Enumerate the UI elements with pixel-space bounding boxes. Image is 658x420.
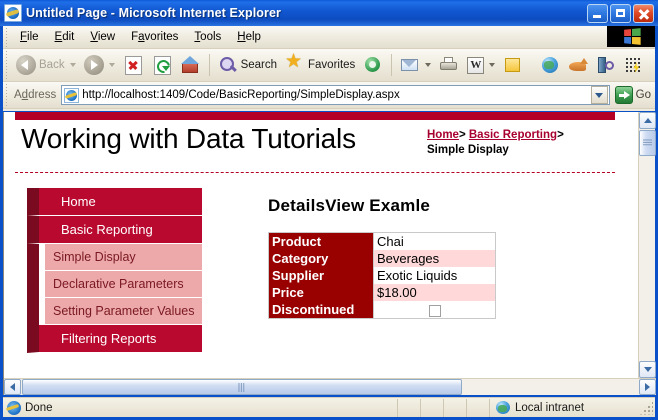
sidebar-item-simple-display[interactable]: Simple Display — [45, 244, 202, 271]
status-cell-4 — [466, 399, 489, 417]
scroll-grip — [643, 140, 652, 147]
menu-gripper[interactable] — [3, 26, 10, 48]
vertical-scroll-thumb[interactable] — [639, 130, 656, 156]
toolbar-separator-2 — [391, 54, 392, 76]
sidebar-item-filtering-reports[interactable]: Filtering Reports — [27, 325, 202, 353]
edit-word-button[interactable] — [463, 50, 499, 80]
window-controls — [587, 4, 658, 23]
table-row: Category Beverages — [269, 250, 496, 267]
window-title: Untitled Page - Microsoft Internet Explo… — [26, 6, 587, 20]
scroll-down-button[interactable] — [639, 361, 656, 378]
stop-button[interactable] — [119, 50, 148, 80]
row-value-discontinued — [374, 301, 496, 319]
table-row: Price $18.00 — [269, 284, 496, 301]
chevron-up-icon — [644, 118, 652, 123]
notes-button[interactable] — [499, 50, 527, 80]
chevron-right-icon — [645, 383, 650, 391]
address-url-text[interactable]: http://localhost:1409/Code/BasicReportin… — [82, 89, 590, 101]
mail-icon — [400, 55, 420, 75]
scroll-left-button[interactable] — [4, 379, 21, 395]
sidebar-nav: Home Basic Reporting Simple Display Decl… — [27, 188, 202, 353]
edit-word-icon — [467, 57, 484, 74]
breadcrumb-separator-2: > — [557, 129, 564, 141]
row-label-discontinued: Discontinued — [269, 301, 374, 319]
back-button[interactable]: Back — [12, 50, 80, 80]
security-zone-label: Local intranet — [515, 402, 584, 414]
menu-item-tools[interactable]: Tools — [186, 28, 229, 46]
back-icon — [16, 55, 36, 75]
status-text: Done — [25, 402, 397, 414]
sidebar-item-declarative-parameters[interactable]: Declarative Parameters — [45, 271, 202, 298]
address-gripper[interactable] — [3, 82, 10, 108]
address-dropdown-icon[interactable] — [591, 86, 608, 104]
row-label-price: Price — [269, 284, 374, 301]
page-status-icon — [7, 401, 21, 415]
research-icon — [596, 55, 616, 75]
forward-icon — [84, 55, 104, 75]
breadcrumb-current: Simple Display — [427, 143, 617, 158]
go-label: Go — [636, 89, 651, 101]
chevron-down-icon — [644, 367, 652, 372]
browser-chrome: File Edit View Favorites Tools Help Back — [3, 26, 655, 111]
breadcrumb-link-home[interactable]: Home — [427, 129, 459, 141]
print-button[interactable] — [435, 50, 463, 80]
sidebar-item-home[interactable]: Home — [27, 188, 202, 216]
breadcrumb-link-section[interactable]: Basic Reporting — [469, 129, 557, 141]
web-page: Working with Data Tutorials Home> Basic … — [4, 112, 638, 378]
status-cell-1 — [397, 399, 420, 417]
details-view-body: Product Chai Category Beverages Supplier… — [269, 233, 496, 319]
row-label-category: Category — [269, 250, 374, 267]
search-label: Search — [241, 59, 277, 71]
page-accent-bar — [15, 112, 615, 120]
favorites-button[interactable]: Favorites — [281, 50, 359, 80]
messenger-button[interactable] — [536, 50, 564, 80]
ie-page-icon — [4, 4, 22, 22]
resize-grip[interactable] — [639, 401, 653, 415]
address-input[interactable]: http://localhost:1409/Code/BasicReportin… — [61, 85, 609, 105]
back-label: Back — [39, 59, 65, 71]
scroll-grip — [239, 383, 246, 392]
refresh-button[interactable] — [148, 50, 177, 80]
msn-icon — [624, 55, 644, 75]
page-header: Working with Data Tutorials Home> Basic … — [15, 120, 615, 168]
home-icon — [181, 55, 201, 75]
security-zone[interactable]: Local intranet — [489, 399, 639, 417]
chevron-left-icon — [10, 383, 15, 391]
breadcrumb: Home> Basic Reporting> Simple Display — [427, 128, 617, 158]
back-dropdown-icon[interactable] — [70, 63, 76, 67]
refresh-icon — [154, 56, 171, 75]
title-bar: Untitled Page - Microsoft Internet Explo… — [0, 0, 658, 26]
sidebar-item-setting-parameter-values[interactable]: Setting Parameter Values — [45, 298, 202, 325]
favorites-label: Favorites — [308, 59, 355, 71]
row-value-price: $18.00 — [374, 284, 496, 301]
details-view-table: Product Chai Category Beverages Supplier… — [268, 232, 496, 319]
favorites-star-icon — [285, 55, 305, 75]
go-arrow-icon — [615, 86, 633, 104]
header-divider — [15, 172, 615, 173]
menu-item-favorites[interactable]: Favorites — [123, 28, 186, 46]
media-button[interactable] — [359, 50, 387, 80]
windows-flag-icon — [607, 26, 655, 47]
globe-icon — [496, 401, 511, 415]
horizontal-scrollbar[interactable] — [4, 378, 656, 395]
table-row: Discontinued — [269, 301, 496, 319]
menu-item-edit[interactable]: Edit — [47, 28, 83, 46]
forward-button[interactable] — [80, 50, 119, 80]
breadcrumb-separator-1: > — [459, 129, 466, 141]
print-icon — [439, 55, 459, 75]
search-icon — [218, 55, 238, 75]
vertical-scrollbar[interactable] — [638, 112, 655, 378]
row-value-product: Chai — [374, 233, 496, 251]
status-bar: Done Local intranet — [3, 397, 655, 417]
row-label-product: Product — [269, 233, 374, 251]
go-button[interactable]: Go — [615, 86, 655, 104]
page-favicon — [64, 88, 79, 103]
mail-dropdown-icon[interactable] — [425, 63, 431, 67]
media-icon — [363, 55, 383, 75]
content-heading: DetailsView Examle — [268, 196, 602, 216]
row-value-category: Beverages — [374, 250, 496, 267]
toolbar: Back Search — [3, 49, 655, 82]
close-button[interactable] — [633, 4, 654, 23]
stop-icon — [125, 56, 142, 75]
search-button[interactable]: Search — [214, 50, 281, 80]
page-viewport: Working with Data Tutorials Home> Basic … — [3, 112, 655, 395]
menu-bar: File Edit View Favorites Tools Help — [3, 26, 655, 49]
research-button[interactable] — [592, 50, 620, 80]
row-label-supplier: Supplier — [269, 267, 374, 284]
home-button[interactable] — [177, 50, 205, 80]
minimize-button[interactable] — [587, 4, 608, 23]
row-value-supplier: Exotic Liquids — [374, 267, 496, 284]
menu-item-file[interactable]: File — [12, 28, 47, 46]
address-bar: Address http://localhost:1409/Code/Basic… — [3, 82, 655, 109]
browser-window: Untitled Page - Microsoft Internet Explo… — [0, 0, 658, 420]
fox-icon — [568, 55, 588, 75]
notes-icon — [503, 55, 523, 75]
table-row: Supplier Exotic Liquids — [269, 267, 496, 284]
menu-item-help[interactable]: Help — [229, 28, 269, 46]
horizontal-scroll-thumb[interactable] — [22, 379, 462, 395]
edit-dropdown-icon[interactable] — [489, 63, 495, 67]
page-title: Working with Data Tutorials — [21, 123, 356, 155]
mail-button[interactable] — [396, 50, 435, 80]
messenger-globe-icon — [540, 55, 560, 75]
scroll-right-button[interactable] — [639, 379, 656, 395]
scroll-up-button[interactable] — [639, 112, 656, 129]
toolbar-gripper[interactable] — [3, 49, 10, 81]
maximize-button[interactable] — [610, 4, 631, 23]
sidebar-accent-strip — [27, 244, 39, 325]
sidebar-item-basic-reporting[interactable]: Basic Reporting — [27, 216, 202, 244]
fox-button[interactable] — [564, 50, 592, 80]
forward-dropdown-icon[interactable] — [109, 63, 115, 67]
menu-item-view[interactable]: View — [82, 28, 123, 46]
table-row: Product Chai — [269, 233, 496, 251]
status-cell-2 — [420, 399, 443, 417]
toolbar-separator — [209, 54, 210, 76]
msn-button[interactable] — [620, 50, 648, 80]
status-cell-3 — [443, 399, 466, 417]
discontinued-checkbox[interactable] — [429, 305, 441, 317]
main-content: DetailsView Examle Product Chai Category… — [262, 196, 602, 319]
address-label: Address — [12, 89, 61, 101]
